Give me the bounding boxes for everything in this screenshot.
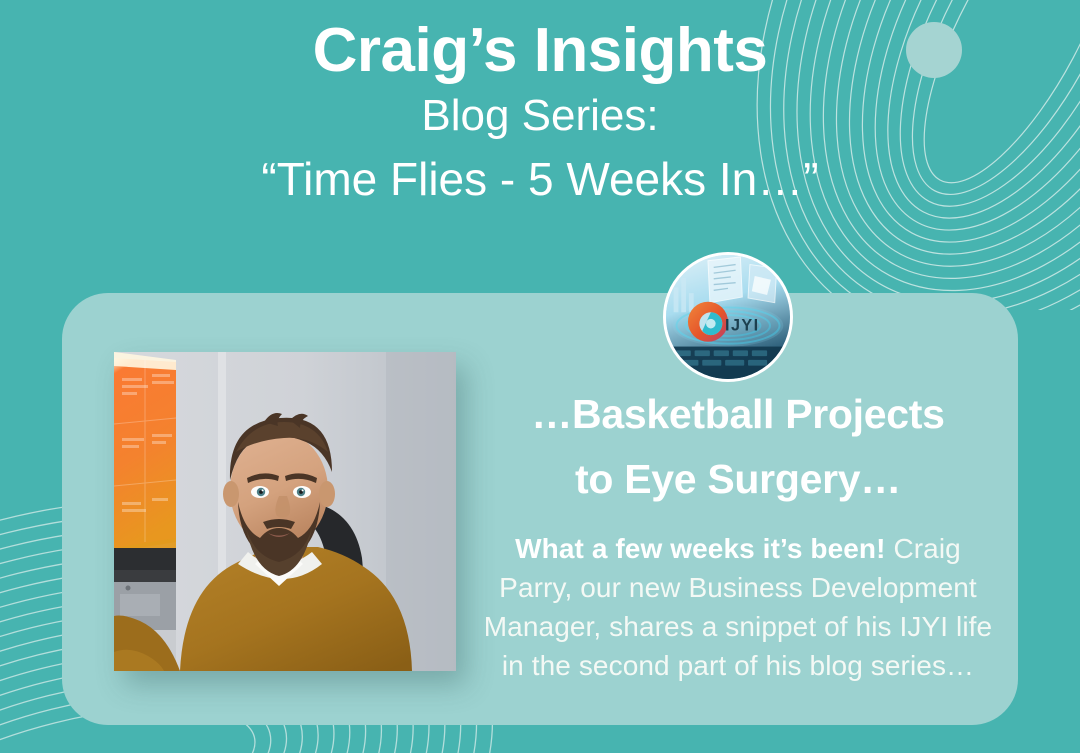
main-text-column: …Basketball Projects to Eye Surgery… Wha… [478, 382, 998, 685]
craig-parry-photo [114, 352, 456, 671]
article-headline: …Basketball Projects to Eye Surgery… [478, 382, 998, 512]
header-block: Craig’s Insights Blog Series: “Time Flie… [0, 0, 1080, 213]
headline-line-2: to Eye Surgery… [575, 456, 901, 502]
headline-line-1: …Basketball Projects [531, 391, 944, 437]
ijyi-logo-circle-icon: IJYI [666, 255, 790, 379]
subtitle-line-2: “Time Flies - 5 Weeks In…” [0, 147, 1080, 212]
subtitle-line-1: Blog Series: [0, 85, 1080, 147]
page-title: Craig’s Insights [0, 0, 1080, 85]
portrait-photo-illustration [114, 352, 456, 671]
article-summary: What a few weeks it’s been! Craig Parry,… [478, 529, 998, 686]
promo-graphic: Craig’s Insights Blog Series: “Time Flie… [0, 0, 1080, 753]
ijyi-logo-badge: IJYI [663, 252, 793, 382]
summary-lead: What a few weeks it’s been! [515, 533, 885, 564]
logo-wordmark: IJYI [725, 316, 760, 334]
